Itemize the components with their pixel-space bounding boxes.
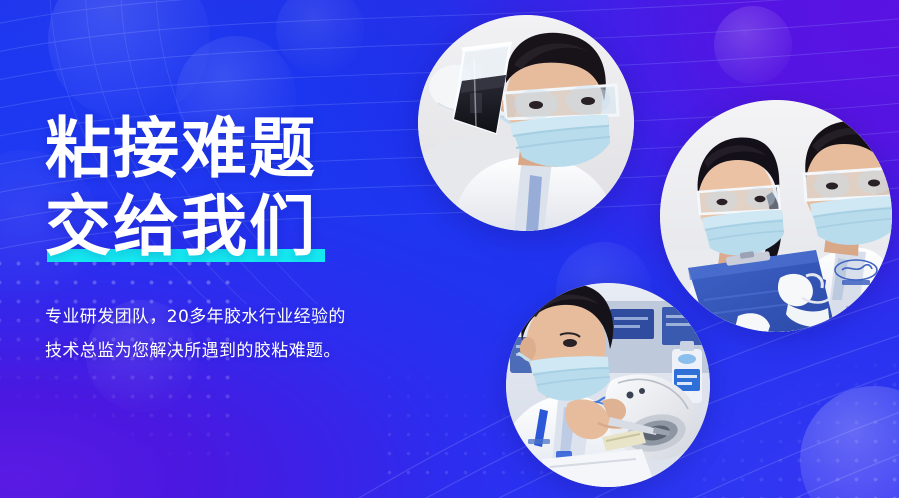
photo-review bbox=[660, 100, 892, 332]
photo-review-illustration bbox=[660, 100, 892, 332]
subcopy-line-2: 技术总监为您解决所遇到的胶粘难题。 bbox=[45, 334, 346, 368]
photo-beaker-illustration bbox=[418, 15, 634, 231]
headline-line-2-wrapper: 交给我们 bbox=[45, 188, 317, 266]
headline-line-1: 粘接难题 bbox=[45, 110, 346, 188]
photo-assembly-illustration bbox=[506, 283, 710, 487]
headline-line-2-row: 交给我们 bbox=[45, 188, 346, 266]
subcopy-line-1: 专业研发团队，20多年胶水行业经验的 bbox=[45, 300, 346, 334]
photo-assembly bbox=[506, 283, 710, 487]
headline-block: 粘接难题 交给我们 专业研发团队，20多年胶水行业经验的 技术总监为您解决所遇到… bbox=[45, 110, 346, 368]
promo-banner: 粘接难题 交给我们 专业研发团队，20多年胶水行业经验的 技术总监为您解决所遇到… bbox=[0, 0, 899, 498]
subcopy-block: 专业研发团队，20多年胶水行业经验的 技术总监为您解决所遇到的胶粘难题。 bbox=[45, 300, 346, 368]
photo-beaker bbox=[418, 15, 634, 231]
headline-line-2: 交给我们 bbox=[45, 188, 317, 265]
